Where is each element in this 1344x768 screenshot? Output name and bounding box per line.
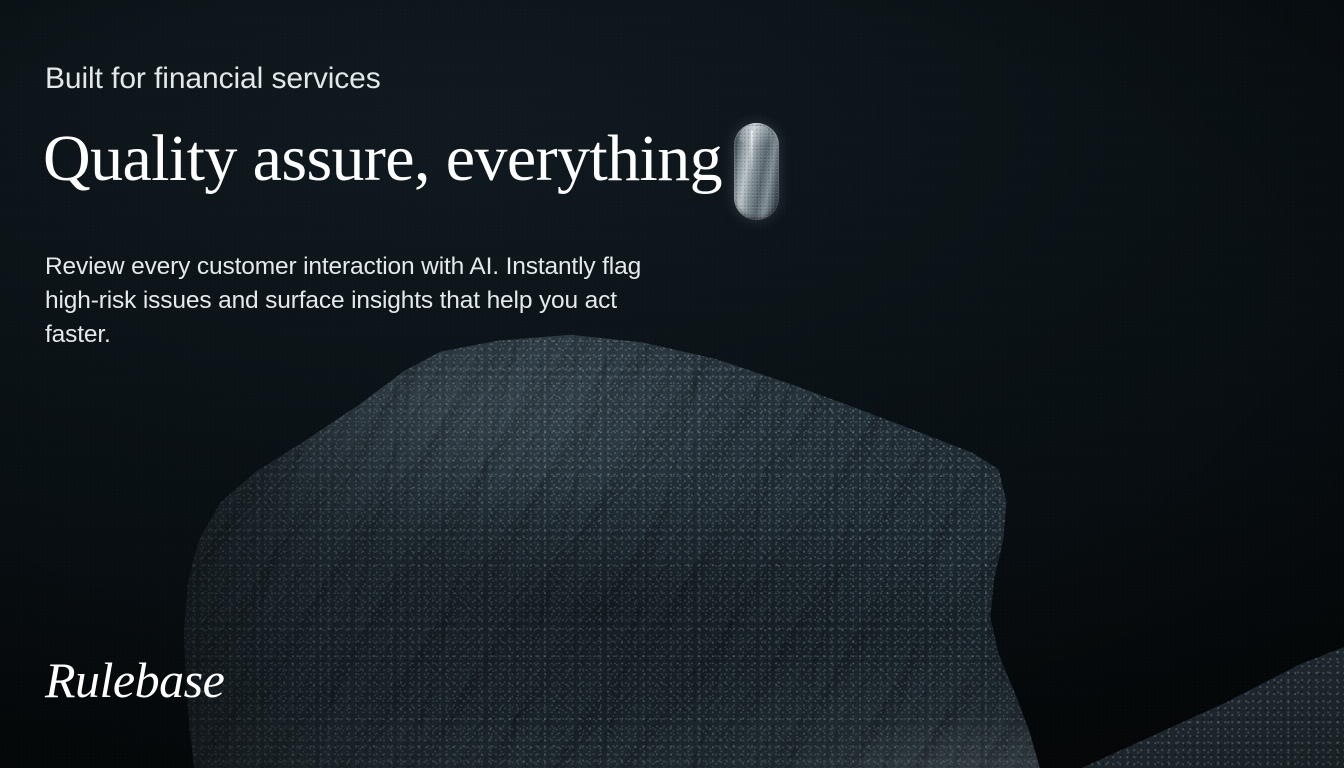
hero-body-copy: Review every customer interaction with A…	[45, 250, 785, 352]
rulebase-logo: Rulebase	[45, 651, 224, 709]
hero-content: Built for financial services Quality ass…	[0, 0, 1344, 768]
metallic-capsule-icon	[734, 123, 779, 220]
capsule-grain	[734, 123, 779, 220]
body-line: high-risk issues and surface insights th…	[45, 284, 785, 318]
body-line: Review every customer interaction with A…	[45, 250, 785, 284]
hero-headline-row: Quality assure, everything	[43, 126, 722, 192]
hero-slide: Built for financial services Quality ass…	[0, 0, 1344, 768]
hero-eyebrow: Built for financial services	[45, 62, 381, 96]
hero-headline: Quality assure, everything	[43, 126, 722, 192]
body-line: faster.	[45, 318, 785, 352]
